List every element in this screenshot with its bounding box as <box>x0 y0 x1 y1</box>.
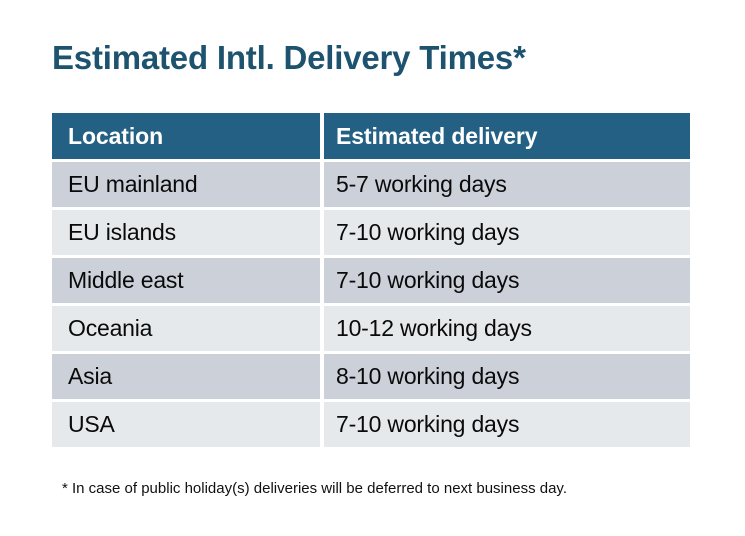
footnote-text: * In case of public holiday(s) deliverie… <box>62 479 567 499</box>
cell-location: Oceania <box>52 306 320 351</box>
table-row: EU mainland 5-7 working days <box>52 162 690 207</box>
cell-location: Middle east <box>52 258 320 303</box>
column-header-location: Location <box>52 113 320 159</box>
cell-location: USA <box>52 402 320 447</box>
column-header-estimated-delivery: Estimated delivery <box>320 113 690 159</box>
table-header-row: Location Estimated delivery <box>52 113 690 159</box>
delivery-times-document: Estimated Intl. Delivery Times* Location… <box>0 0 745 536</box>
cell-delivery: 8-10 working days <box>320 354 690 399</box>
cell-delivery: 7-10 working days <box>320 258 690 303</box>
table-body: EU mainland 5-7 working days EU islands … <box>52 159 690 447</box>
table-row: Middle east 7-10 working days <box>52 258 690 303</box>
table-row: EU islands 7-10 working days <box>52 210 690 255</box>
cell-delivery: 5-7 working days <box>320 162 690 207</box>
page-title: Estimated Intl. Delivery Times* <box>52 36 526 80</box>
table-row: USA 7-10 working days <box>52 402 690 447</box>
cell-delivery: 7-10 working days <box>320 402 690 447</box>
cell-location: EU mainland <box>52 162 320 207</box>
table-head: Location Estimated delivery <box>52 113 690 159</box>
delivery-times-table: Location Estimated delivery EU mainland … <box>52 113 690 447</box>
cell-location: Asia <box>52 354 320 399</box>
table-row: Asia 8-10 working days <box>52 354 690 399</box>
cell-delivery: 10-12 working days <box>320 306 690 351</box>
cell-location: EU islands <box>52 210 320 255</box>
cell-delivery: 7-10 working days <box>320 210 690 255</box>
table-row: Oceania 10-12 working days <box>52 306 690 351</box>
